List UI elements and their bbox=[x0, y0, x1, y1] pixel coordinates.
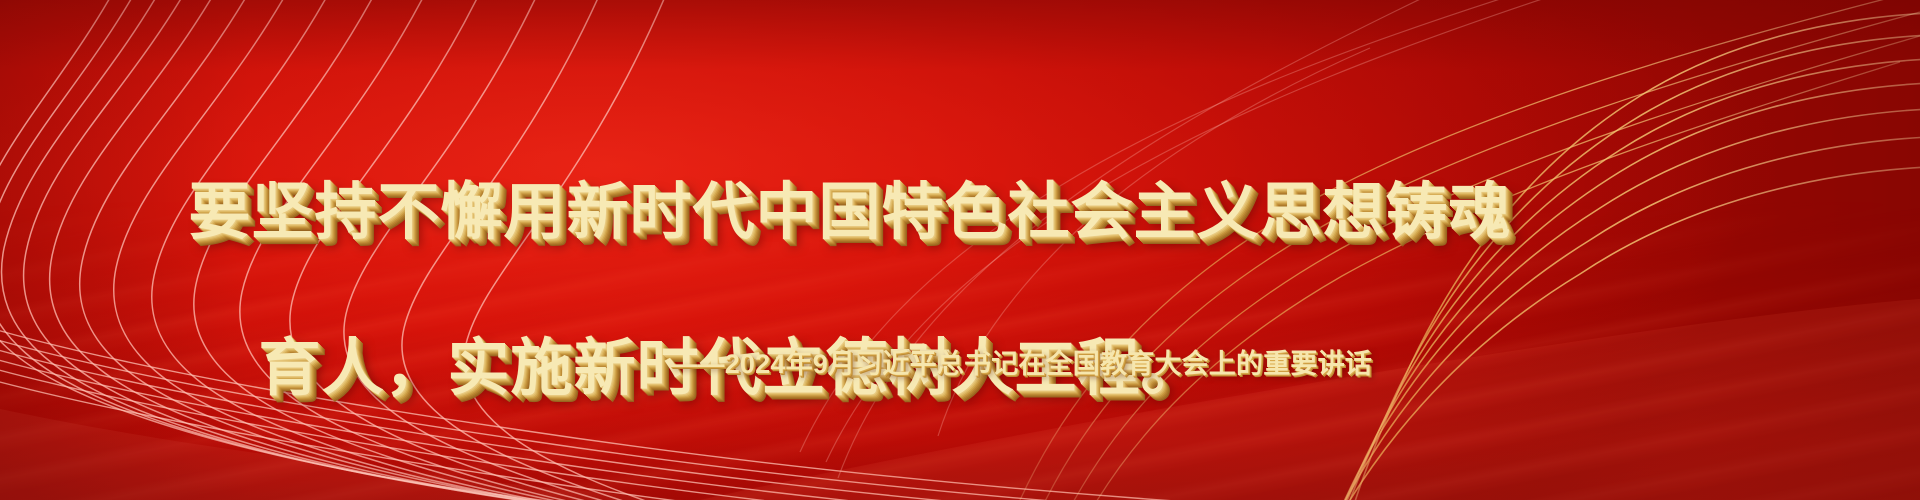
slogan-banner: 要坚持不懈用新时代中国特色社会主义思想铸魂 育人，实施新时代立德树人工程。 ——… bbox=[0, 0, 1920, 500]
headline-line-1: 要坚持不懈用新时代中国特色社会主义思想铸魂 bbox=[0, 174, 1700, 252]
attribution-text: ——2024年9月习近平总书记在全国教育大会上的重要讲话 bbox=[0, 344, 1372, 384]
banner-content: 要坚持不懈用新时代中国特色社会主义思想铸魂 育人，实施新时代立德树人工程。 ——… bbox=[0, 0, 1920, 500]
headline-text: 要坚持不懈用新时代中国特色社会主义思想铸魂 育人，实施新时代立德树人工程。 bbox=[0, 96, 1700, 486]
